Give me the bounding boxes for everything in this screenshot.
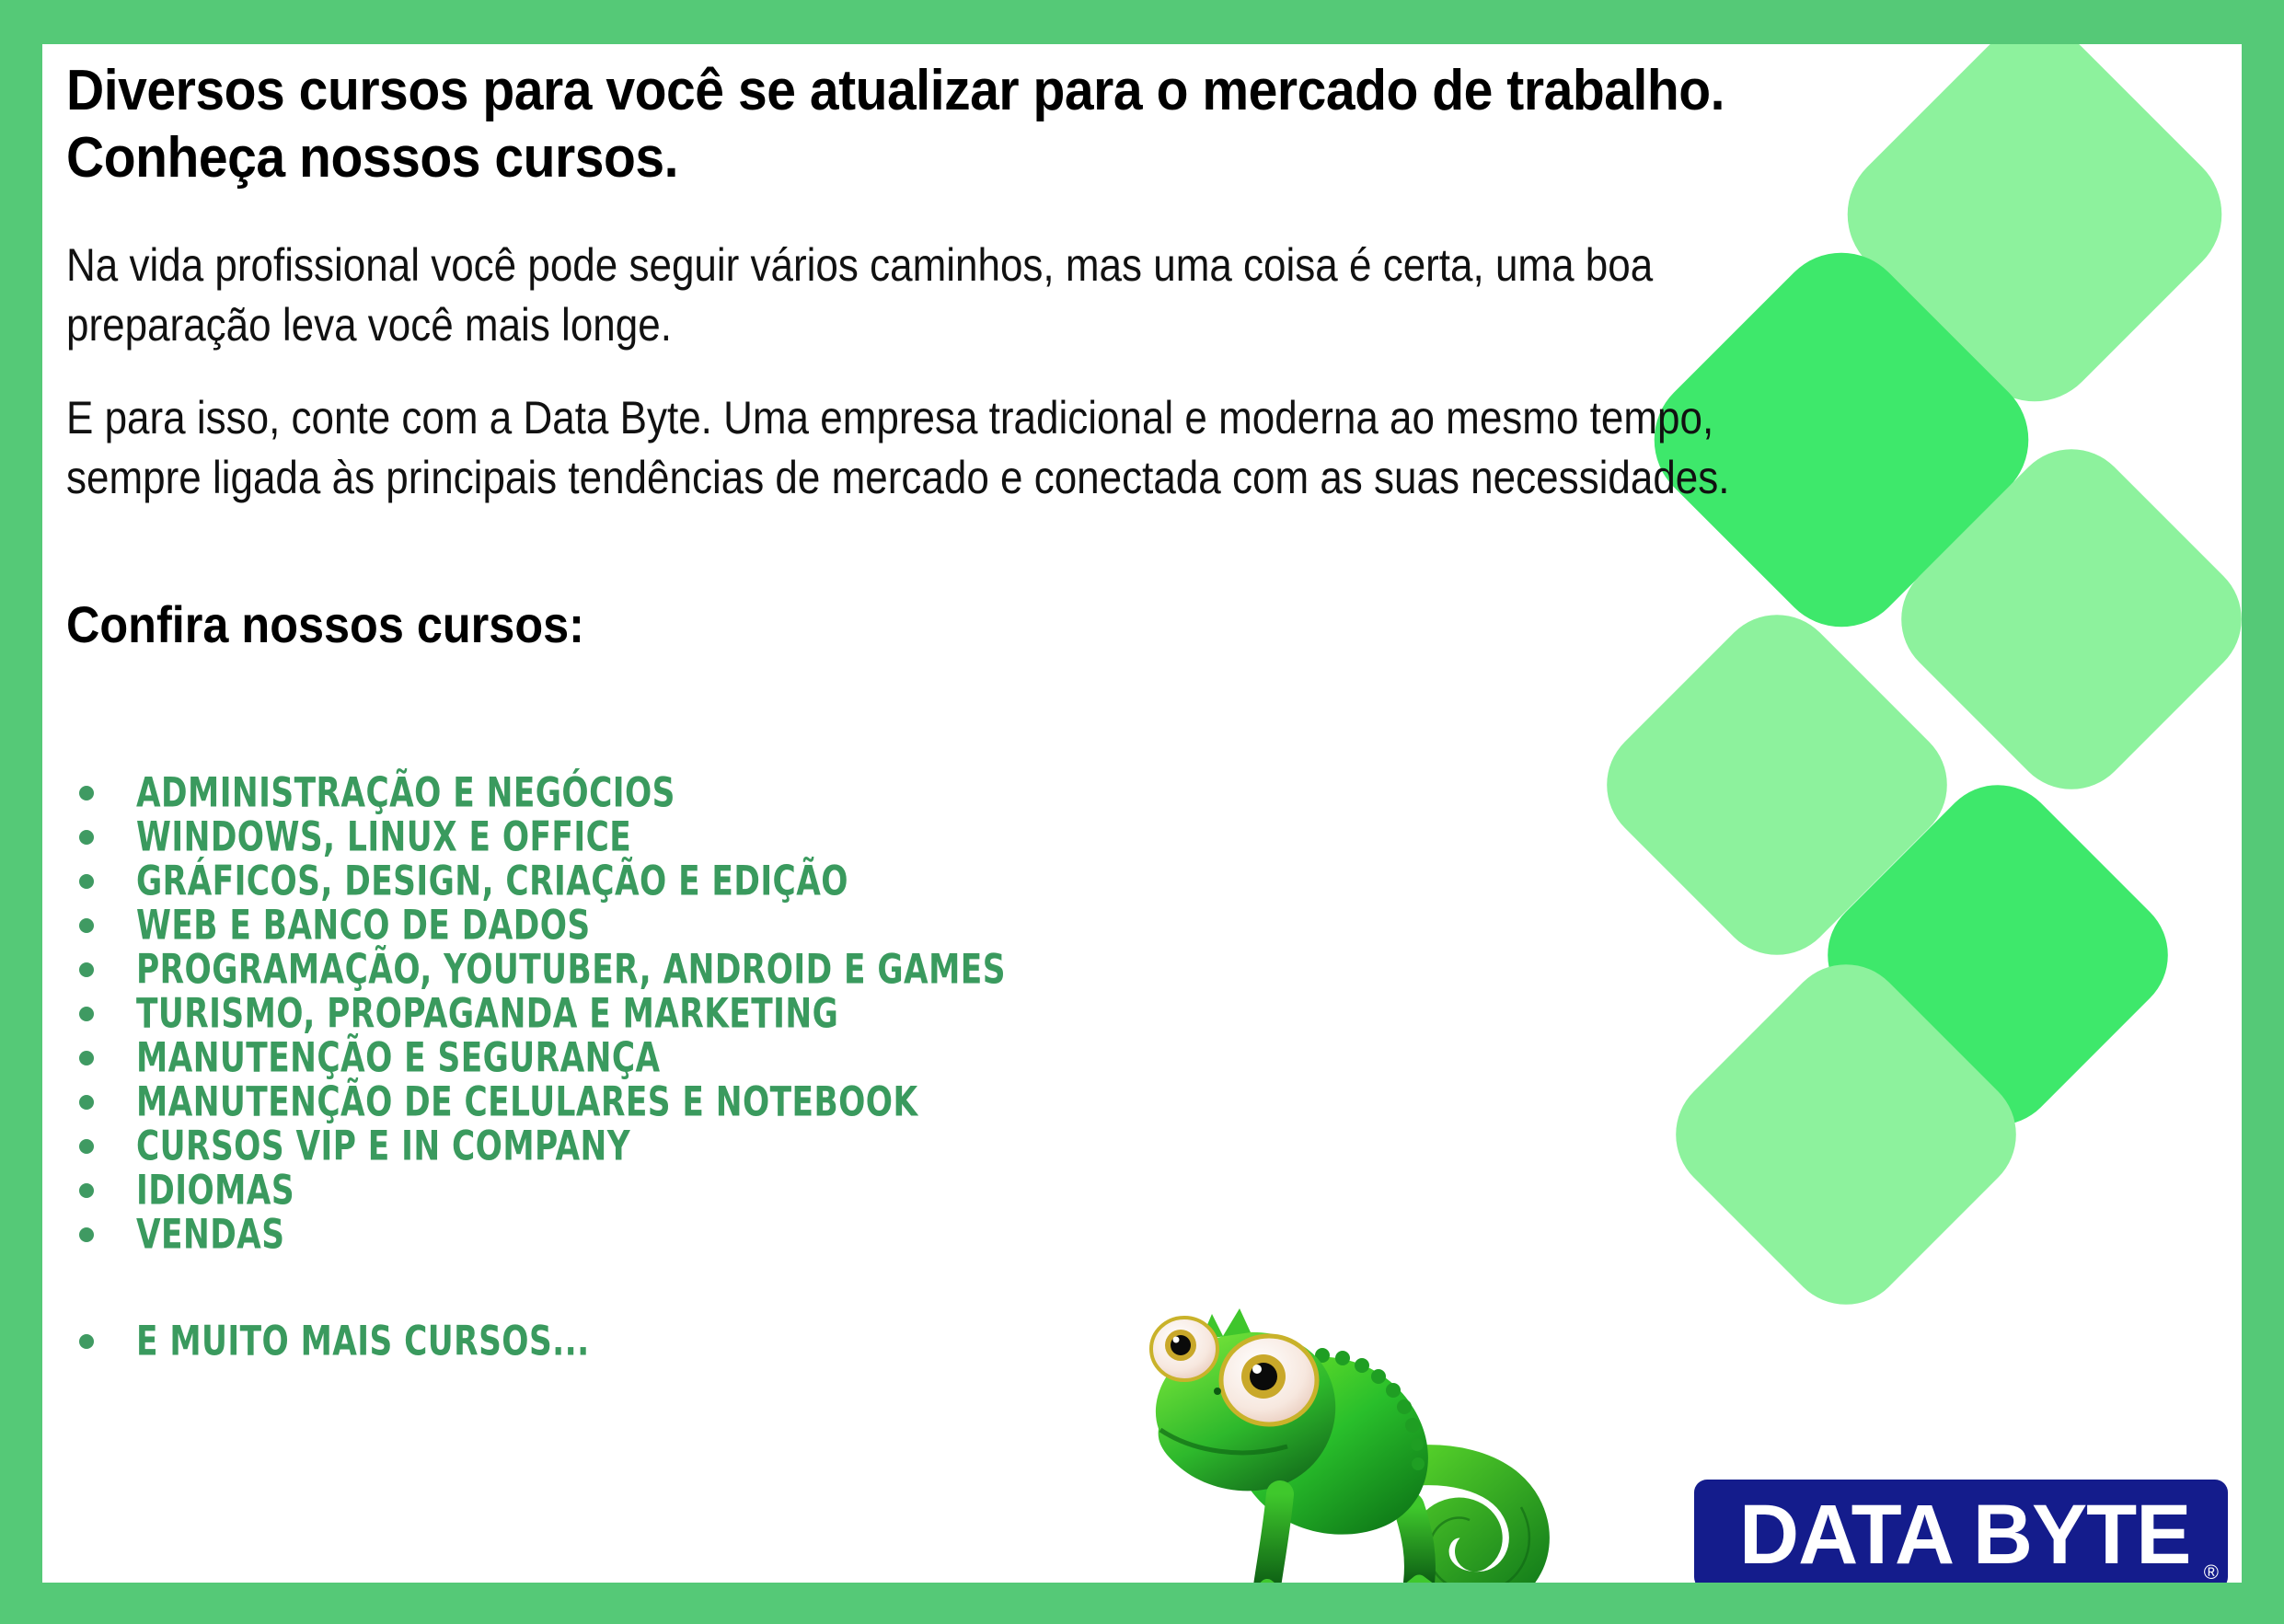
bullet-icon xyxy=(79,1227,94,1242)
course-label: TURISMO, PROPAGANDA E MARKETING xyxy=(136,994,838,1035)
headline: Diversos cursos para você se atualizar p… xyxy=(66,57,1759,191)
course-label: GRÁFICOS, DESIGN, CRIAÇÃO E EDIÇÃO xyxy=(136,861,848,903)
list-item[interactable]: TURISMO, PROPAGANDA E MARKETING xyxy=(66,992,1355,1036)
course-label: E MUITO MAIS CURSOS... xyxy=(136,1321,590,1363)
courses-subheading: Confira nossos cursos: xyxy=(66,596,584,653)
chameleon-mascot-icon xyxy=(1105,1240,1657,1583)
databyte-logo: DATA BYTE ® Formação Profissional Comple… xyxy=(1694,1480,2228,1583)
intro-paragraph-2: E para isso, conte com a Data Byte. Uma … xyxy=(66,388,1750,508)
intro-paragraph-1: Na vida profissional você pode seguir vá… xyxy=(66,236,1750,355)
course-label: WINDOWS, LINUX E OFFICE xyxy=(136,817,631,858)
bullet-icon xyxy=(79,1007,94,1021)
poster-root: Diversos cursos para você se atualizar p… xyxy=(0,0,2284,1624)
list-item[interactable]: CURSOS VIP E IN COMPANY xyxy=(66,1124,1355,1169)
list-item[interactable]: MANUTENÇÃO E SEGURANÇA xyxy=(66,1036,1355,1080)
course-label: ADMINISTRAÇÃO E NEGÓCIOS xyxy=(136,773,675,814)
course-label: CURSOS VIP E IN COMPANY xyxy=(136,1126,630,1168)
bullet-icon xyxy=(79,1051,94,1065)
bullet-icon xyxy=(79,918,94,933)
logo-wordmark-panel: DATA BYTE ® xyxy=(1694,1480,2228,1583)
chameleon-eye-near xyxy=(1221,1336,1317,1424)
chameleon-eye-far xyxy=(1151,1318,1217,1380)
course-label: IDIOMAS xyxy=(136,1170,294,1212)
bullet-icon xyxy=(79,1139,94,1154)
list-item[interactable]: WEB E BANCO DE DADOS xyxy=(66,904,1355,948)
bullet-icon xyxy=(79,962,94,977)
course-label: VENDAS xyxy=(136,1215,284,1256)
list-item[interactable]: PROGRAMAÇÃO, YOUTUBER, ANDROID E GAMES xyxy=(66,948,1355,992)
bullet-icon xyxy=(79,786,94,800)
course-label: WEB E BANCO DE DADOS xyxy=(136,905,591,947)
list-item[interactable]: MANUTENÇÃO DE CELULARES E NOTEBOOK xyxy=(66,1080,1355,1124)
bullet-icon xyxy=(79,830,94,845)
bullet-icon xyxy=(79,1334,94,1349)
bullet-icon xyxy=(79,1183,94,1198)
course-label: MANUTENÇÃO E SEGURANÇA xyxy=(136,1038,661,1079)
list-item[interactable]: WINDOWS, LINUX E OFFICE xyxy=(66,815,1355,859)
chameleon-front-leg xyxy=(1243,1494,1293,1583)
course-label: MANUTENÇÃO DE CELULARES E NOTEBOOK xyxy=(136,1082,918,1123)
poster-canvas: Diversos cursos para você se atualizar p… xyxy=(42,44,2242,1583)
registered-trademark-icon: ® xyxy=(2204,1562,2219,1583)
bullet-icon xyxy=(79,1095,94,1110)
bullet-icon xyxy=(79,874,94,889)
list-item[interactable]: GRÁFICOS, DESIGN, CRIAÇÃO E EDIÇÃO xyxy=(66,859,1355,904)
list-item[interactable]: ADMINISTRAÇÃO E NEGÓCIOS xyxy=(66,771,1355,815)
list-item[interactable]: IDIOMAS xyxy=(66,1169,1355,1213)
course-label: PROGRAMAÇÃO, YOUTUBER, ANDROID E GAMES xyxy=(136,950,1006,991)
logo-wordmark-text: DATA BYTE xyxy=(1739,1492,2190,1577)
